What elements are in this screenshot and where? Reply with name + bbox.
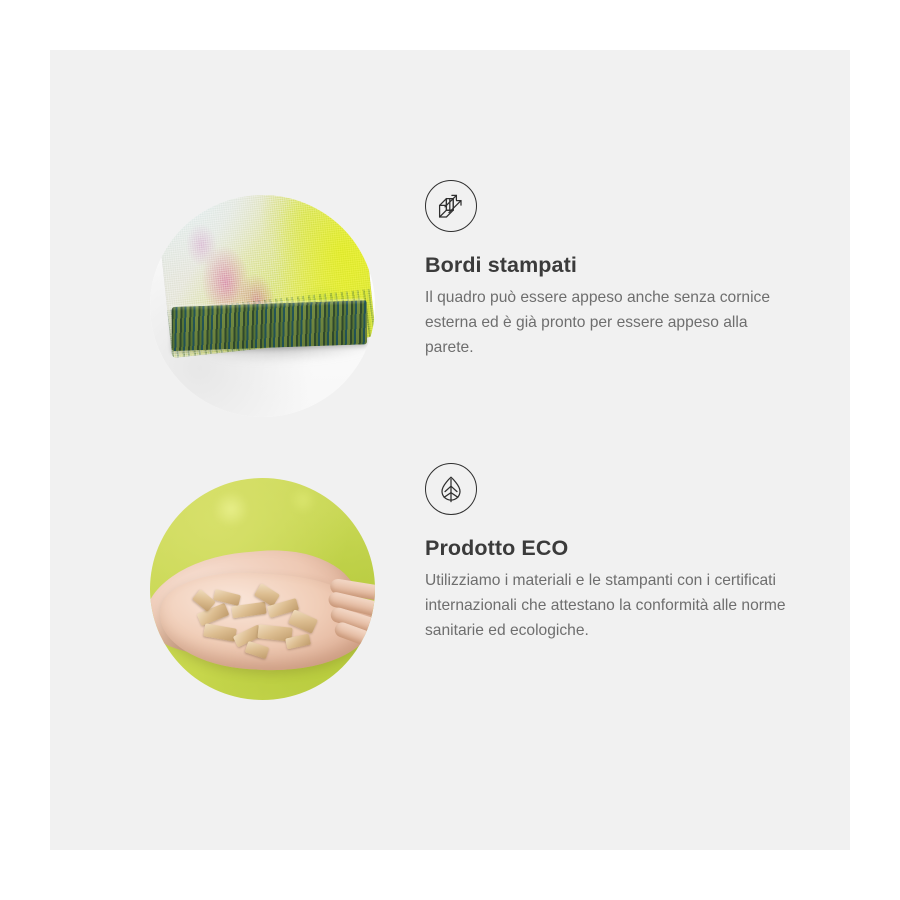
hands-illustration: [150, 544, 375, 676]
feature-info-eco-product: Prodotto ECO Utilizziamo i materiali e l…: [425, 463, 805, 643]
feature-block-eco-product: Prodotto ECO Utilizziamo i materiali e l…: [50, 463, 850, 713]
printed-canvas-edge-glyph: [435, 190, 467, 222]
wood-chips: [194, 586, 326, 658]
wood-chips-in-hands-photo: [150, 478, 375, 700]
canvas-corner-photo: [150, 195, 375, 417]
content-panel: Bordi stampati Il quadro può essere appe…: [50, 50, 850, 850]
feature-info-printed-edges: Bordi stampati Il quadro può essere appe…: [425, 180, 805, 360]
feature-photo-printed-edges: [150, 195, 375, 417]
feature-title-eco-product: Prodotto ECO: [425, 536, 805, 562]
product-feature-page: Bordi stampati Il quadro può essere appe…: [0, 0, 900, 900]
printed-canvas-edge-icon: [425, 180, 477, 232]
feature-block-printed-edges: Bordi stampati Il quadro può essere appe…: [50, 180, 850, 430]
feature-title-printed-edges: Bordi stampati: [425, 253, 805, 279]
canvas-corner-object: [153, 195, 375, 394]
leaf-glyph: [436, 474, 466, 504]
feature-description-printed-edges: Il quadro può essere appeso anche senza …: [425, 285, 793, 360]
feature-photo-eco-product: [150, 478, 375, 700]
leaf-icon: [425, 463, 477, 515]
feature-description-eco-product: Utilizziamo i materiali e le stampanti c…: [425, 568, 793, 643]
